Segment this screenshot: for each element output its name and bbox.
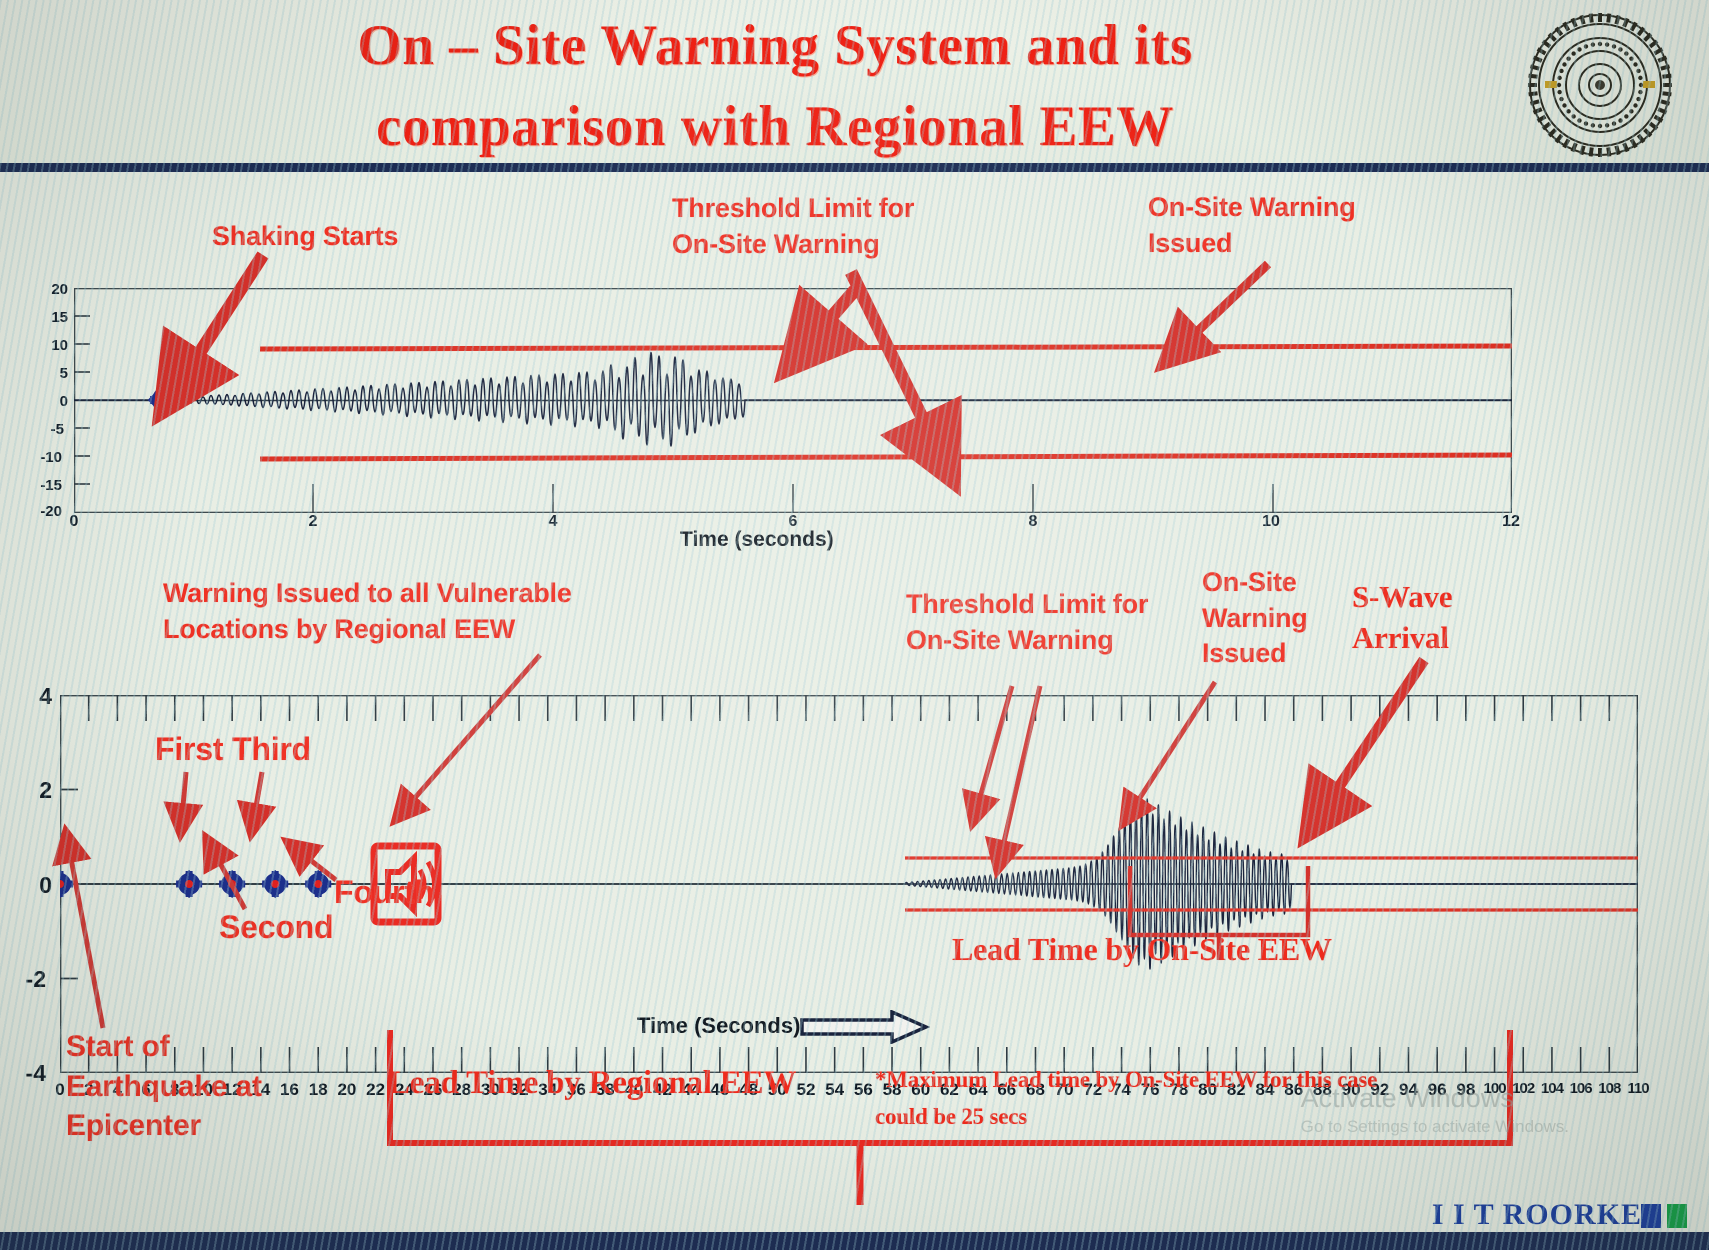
annotation-first: First <box>155 728 223 770</box>
c1-xtick-2: 2 <box>298 513 328 531</box>
c1-ytick-10: 10 <box>34 337 68 354</box>
iit-roorkee-seal-icon <box>1525 10 1675 160</box>
annotation-lead-time-onsite: Lead Time by On-Site EEW <box>952 928 1332 970</box>
marker-shaking-start <box>148 382 185 419</box>
annotation-onsite-warning-issued-chart2: On-Site Warning Issued <box>1202 565 1308 672</box>
c1-ytick-20: 20 <box>34 281 68 298</box>
marker-start-of-earthquake-at-epicenter <box>60 870 74 898</box>
brand-square-blue <box>1641 1204 1661 1228</box>
marker-second <box>218 870 246 898</box>
c2-ytick-0: 0 <box>22 872 52 899</box>
c1-xtick-8: 8 <box>1018 513 1048 531</box>
c1-ytick-neg15: -15 <box>28 477 62 494</box>
annotation-s-wave-arrival: S-Wave Arrival <box>1352 577 1452 659</box>
c2-xtick-20: 20 <box>334 1080 360 1100</box>
c2-axis-label-time: Time (Seconds) <box>637 1013 800 1039</box>
title-line-1: On – Site Warning System and its <box>120 6 1430 87</box>
annotation-lead-time-regional: Lead Time by Regional EEW <box>388 1062 796 1106</box>
footer-band <box>0 1232 1709 1250</box>
institute-brand: I I T ROORKEE <box>1432 1198 1663 1232</box>
annotation-shaking-starts: Shaking Starts <box>212 219 398 255</box>
c1-ytick-neg20: -20 <box>28 503 62 520</box>
c1-xtick-4: 4 <box>538 513 568 531</box>
c2-ytick-neg2: -2 <box>16 966 46 993</box>
c2-xtick-52: 52 <box>793 1080 819 1100</box>
annotation-threshold-limit-chart1: Threshold Limit for On-Site Warning <box>672 191 914 262</box>
threshold-line-upper-chart1 <box>260 346 1512 349</box>
c2-ytick-4: 4 <box>22 683 52 710</box>
watermark-title: Activate Windows <box>1301 1081 1569 1116</box>
marker-fourth <box>304 870 332 898</box>
chart-onsite-accelerogram <box>74 288 1512 513</box>
c1-axis-label-time: Time (seconds) <box>680 528 834 552</box>
windows-activation-watermark: Activate Windows Go to Settings to activ… <box>1301 1081 1569 1138</box>
title-line-2: comparison with Regional EEW <box>120 87 1430 168</box>
c2-ytick-2: 2 <box>22 777 52 804</box>
c2-xtick-110: 110 <box>1625 1080 1651 1097</box>
marker-third <box>261 870 289 898</box>
c1-xtick-0: 0 <box>59 513 89 531</box>
c2-xtick-56: 56 <box>850 1080 876 1100</box>
c2-xtick-22: 22 <box>363 1080 389 1100</box>
c2-ytick-neg4: -4 <box>16 1060 46 1087</box>
annotation-fourth: Fourth <box>334 871 434 913</box>
c1-ytick-5: 5 <box>34 365 68 382</box>
marker-first <box>175 870 203 898</box>
c2-xtick-16: 16 <box>277 1080 303 1100</box>
slide-header: On – Site Warning System and its compari… <box>0 0 1709 172</box>
threshold-line-lower-chart1 <box>260 455 1512 459</box>
c1-ytick-neg10: -10 <box>28 449 62 466</box>
c1-xtick-12: 12 <box>1496 513 1526 531</box>
c1-ytick-0: 0 <box>34 393 68 410</box>
annotation-second: Second <box>219 906 333 948</box>
c2-xtick-18: 18 <box>305 1080 331 1100</box>
annotation-start-of-earthquake: Start of Earthquake at Epicenter <box>66 1027 262 1146</box>
time-direction-arrow-icon <box>800 1010 930 1044</box>
annotation-regional-eew-warning: Warning Issued to all Vulnerable Locatio… <box>163 576 683 647</box>
c2-xtick-106: 106 <box>1568 1080 1594 1097</box>
page-title: On – Site Warning System and its compari… <box>120 6 1430 168</box>
c2-xtick-108: 108 <box>1596 1080 1622 1097</box>
annotation-onsite-warning-issued-chart1: On-Site Warning Issued <box>1148 190 1356 261</box>
slide-root: On – Site Warning System and its compari… <box>0 0 1709 1250</box>
brand-square-green <box>1667 1204 1687 1228</box>
watermark-subtitle: Go to Settings to activate Windows. <box>1301 1116 1569 1138</box>
c2-xtick-54: 54 <box>822 1080 848 1100</box>
annotation-threshold-limit-chart2: Threshold Limit for On-Site Warning <box>906 587 1148 658</box>
annotation-third: Third <box>232 728 311 770</box>
waveform-trace-chart1 <box>74 353 1512 447</box>
c1-xtick-10: 10 <box>1256 513 1286 531</box>
c1-ytick-15: 15 <box>34 309 68 326</box>
c1-ytick-neg5: -5 <box>30 421 64 438</box>
